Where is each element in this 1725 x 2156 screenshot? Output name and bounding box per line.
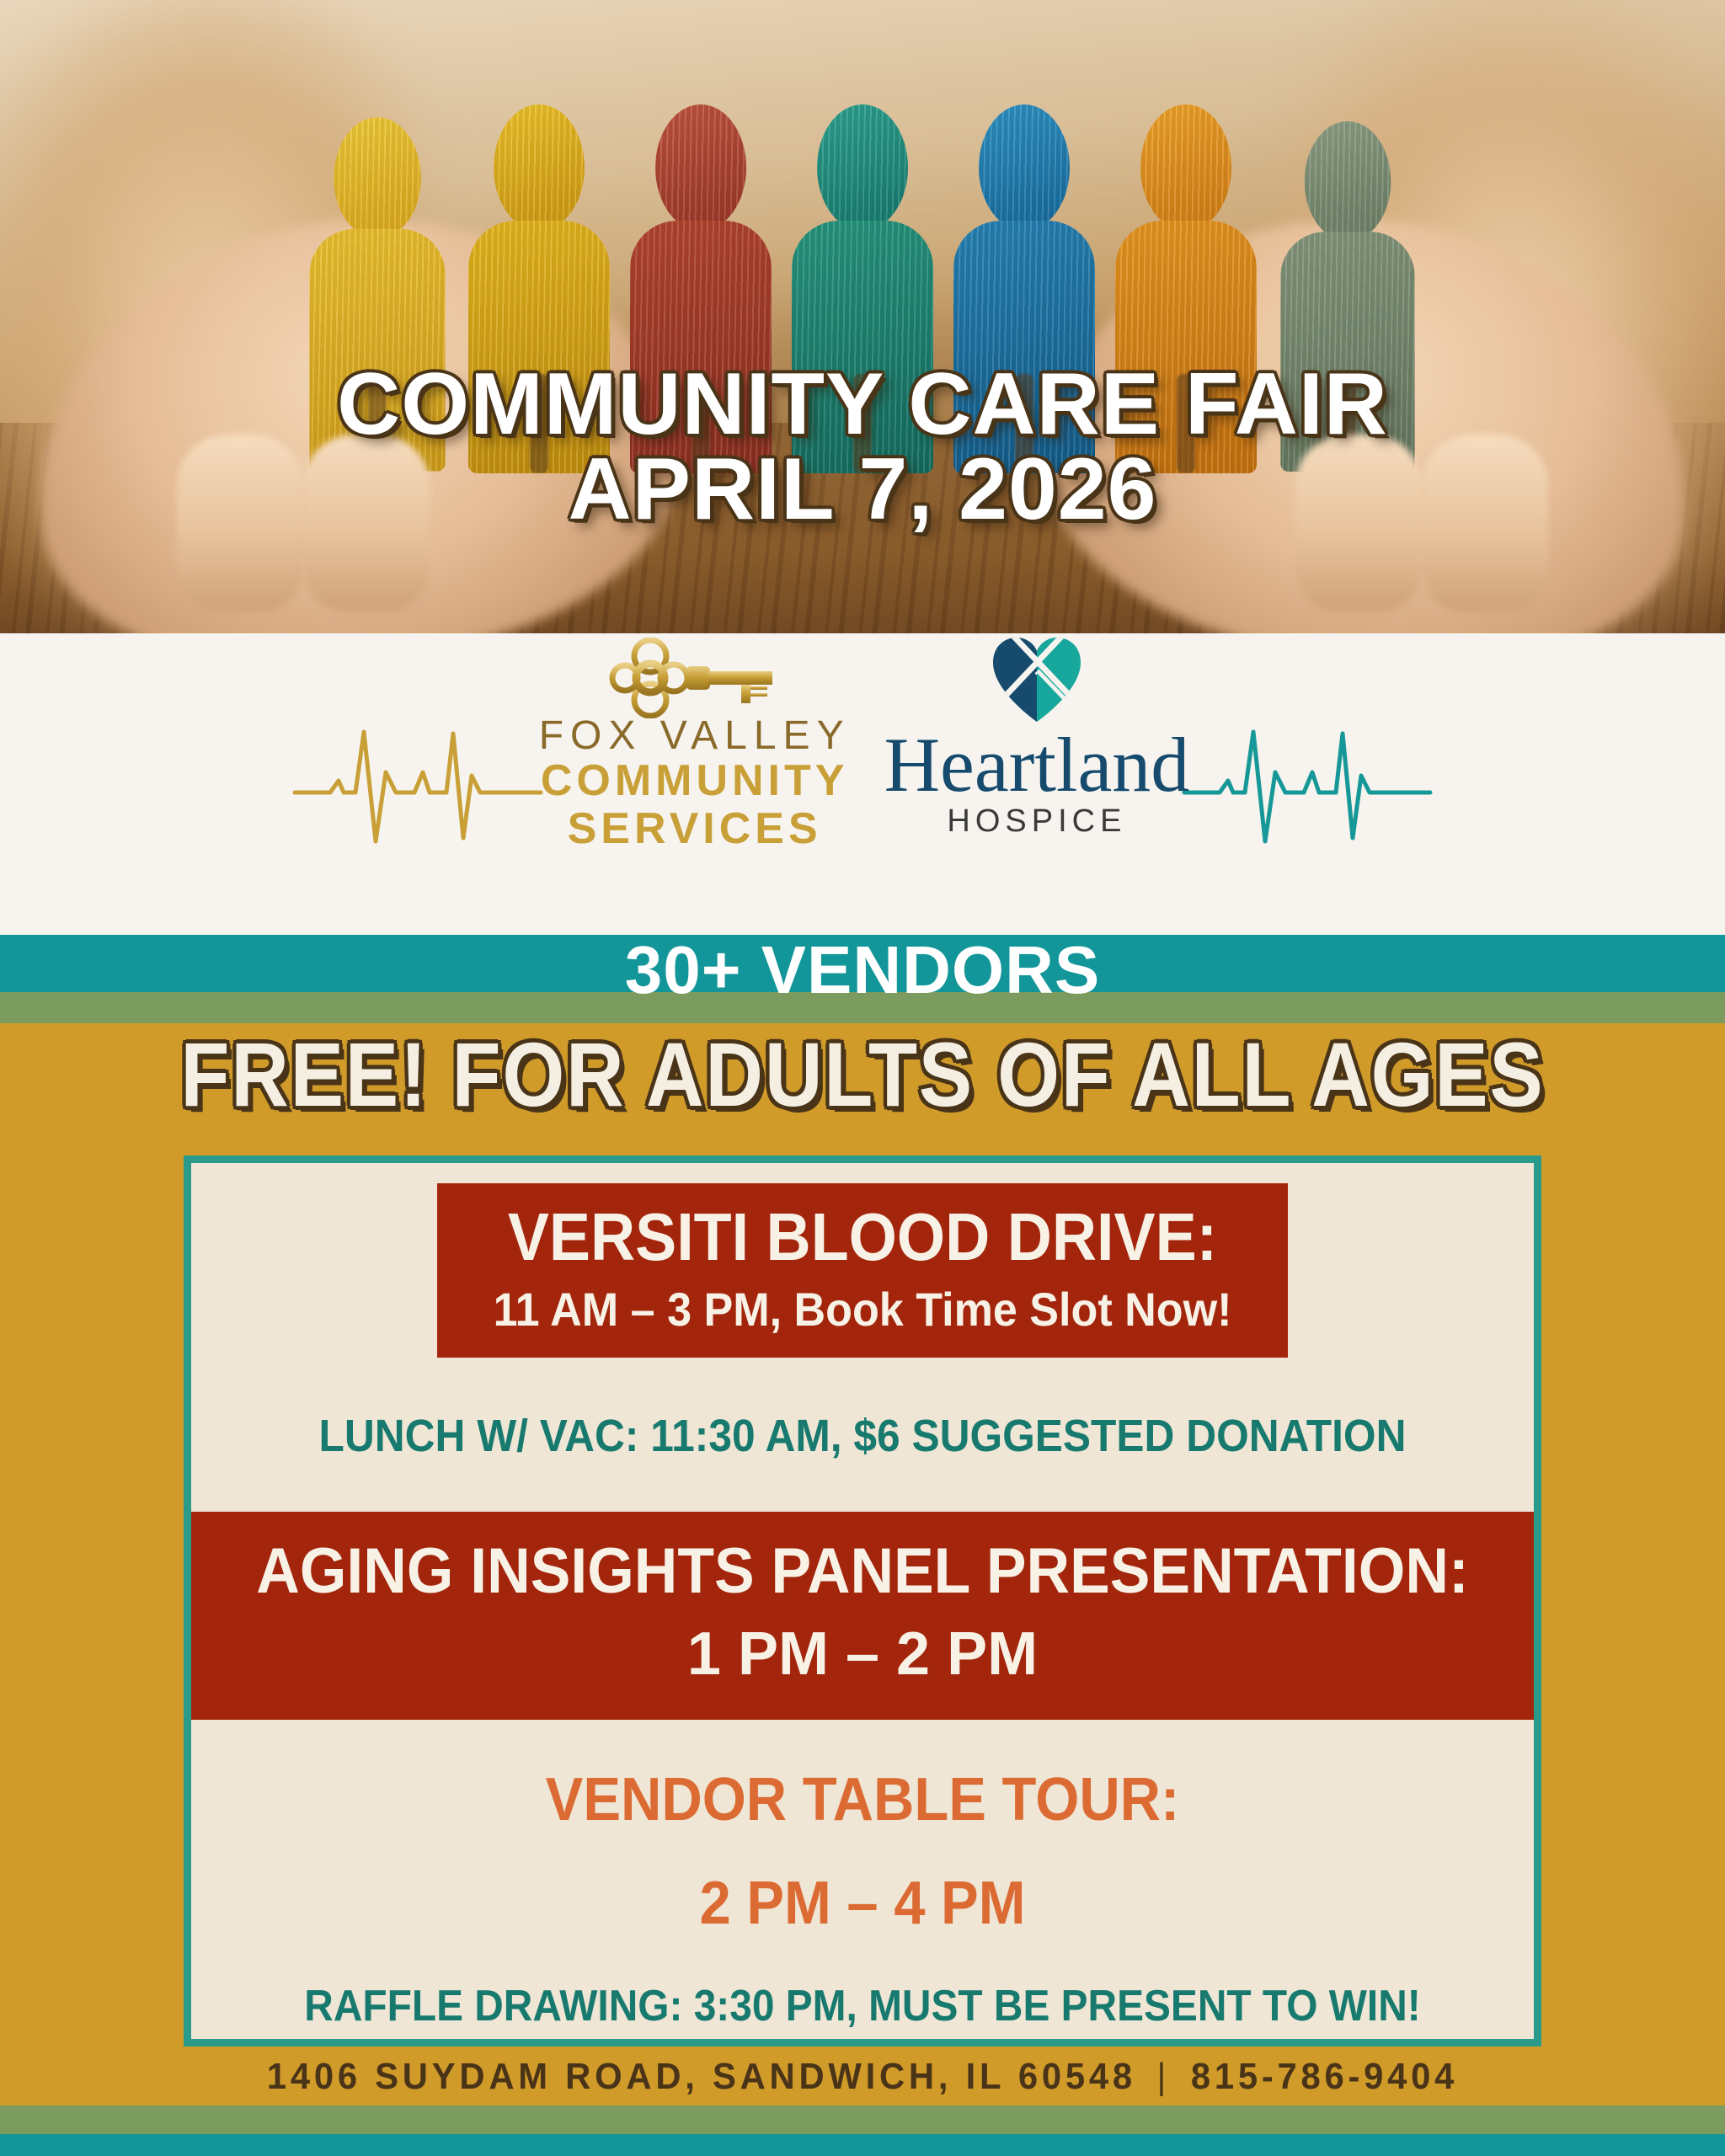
footer-separator: |	[1136, 2056, 1191, 2097]
aging-time: 1 PM – 2 PM	[191, 1618, 1534, 1690]
footer-contact: 1406 SUYDAM ROAD, SANDWICH, IL 60548|815…	[43, 2058, 1682, 2095]
hero-photo: COMMUNITY CARE FAIR APRIL 7, 2026	[0, 0, 1725, 633]
page-title: COMMUNITY CARE FAIR APRIL 7, 2026	[0, 362, 1725, 532]
heartland-hospice-logo: Heartland HOSPICE	[884, 708, 1434, 860]
lunch-line: LUNCH W/ VAC: 11:30 AM, $6 SUGGESTED DON…	[245, 1412, 1480, 1461]
aging-block: AGING INSIGHTS PANEL PRESENTATION: 1 PM …	[191, 1512, 1534, 1719]
fox-valley-wordmark: FOX VALLEY COMMUNITY SERVICES	[539, 715, 851, 854]
fox-valley-line3: SERVICES	[539, 805, 851, 853]
tour-time: 2 PM – 4 PM	[238, 1870, 1487, 1937]
flyer: COMMUNITY CARE FAIR APRIL 7, 2026	[0, 0, 1725, 2156]
versiti-block: VERSITI BLOOD DRIVE: 11 AM – 3 PM, Book …	[437, 1183, 1288, 1358]
versiti-detail: 11 AM – 3 PM, Book Time Slot Now!	[467, 1283, 1258, 1336]
hero-title-line2: APRIL 7, 2026	[0, 447, 1725, 532]
aging-heading: AGING INSIGHTS PANEL PRESENTATION:	[232, 1537, 1493, 1606]
vendors-count: 30+ VENDORS	[0, 937, 1725, 1004]
teal-band-bottom	[0, 2134, 1725, 2156]
key-icon	[606, 638, 783, 723]
footer-address: 1406 SUYDAM ROAD, SANDWICH, IL 60548	[267, 2056, 1136, 2097]
footer-phone[interactable]: 815-786-9404	[1191, 2056, 1458, 2097]
fox-valley-logo: FOX VALLEY COMMUNITY SERVICES	[291, 708, 851, 860]
schedule-panel: VERSITI BLOOD DRIVE: 11 AM – 3 PM, Book …	[184, 1155, 1541, 2047]
tour-heading: VENDOR TABLE TOUR:	[238, 1767, 1487, 1833]
ekg-line-teal-icon	[1181, 708, 1434, 860]
woven-heart-icon	[988, 634, 1086, 729]
free-headline: FREE! FOR ADULTS OF ALL AGES	[104, 1029, 1621, 1120]
logo-band: FOX VALLEY COMMUNITY SERVICES	[0, 633, 1725, 935]
raffle-line: RAFFLE DRAWING: 3:30 PM, MUST BE PRESENT…	[245, 1983, 1480, 2031]
fox-valley-line2: COMMUNITY	[539, 757, 851, 805]
versiti-heading: VERSITI BLOOD DRIVE:	[471, 1202, 1253, 1272]
hero-title-line1: COMMUNITY CARE FAIR	[337, 355, 1388, 453]
heartland-wordmark: Heartland HOSPICE	[884, 728, 1190, 840]
green-band-bottom	[0, 2105, 1725, 2134]
ekg-line-gold-icon	[291, 708, 544, 860]
heartland-name: Heartland	[884, 728, 1190, 802]
heartland-sub: HOSPICE	[884, 803, 1190, 840]
